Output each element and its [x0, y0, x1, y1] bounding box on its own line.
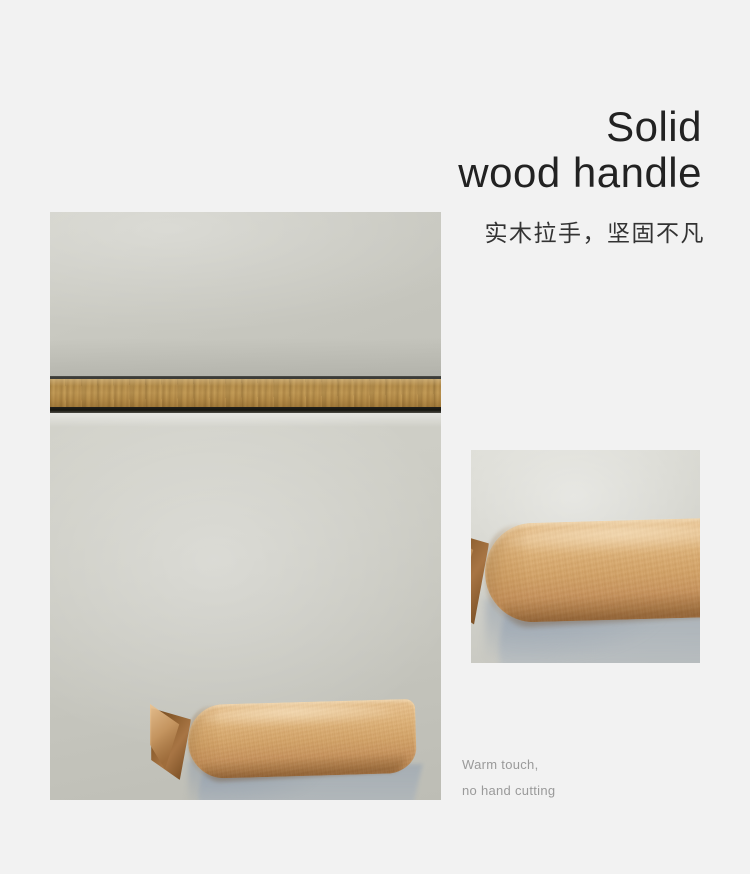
caption-line-2: no hand cutting: [462, 778, 555, 804]
product-detail-page: Solid wood handle 实木拉手，坚固不凡: [0, 0, 750, 874]
caption-line-1: Warm touch,: [462, 752, 555, 778]
wood-trim-highlight: [50, 379, 441, 386]
handle-body: [484, 516, 700, 624]
wood-trim-strip: [50, 379, 441, 408]
cabinet-panel-lower: [50, 413, 441, 800]
headline-line-1: Solid: [282, 104, 702, 150]
inset-detail-photo: [471, 450, 700, 663]
handle-top-highlight: [203, 702, 394, 729]
subtitle-chinese: 实木拉手，坚固不凡: [485, 218, 706, 248]
handle-body: [187, 699, 417, 779]
panel-upper-shading: [50, 338, 441, 378]
handle-top-highlight: [505, 521, 700, 558]
panel-lower-highlight: [50, 413, 441, 427]
headline-line-2: wood handle: [282, 150, 702, 196]
caption-block: Warm touch, no hand cutting: [462, 752, 555, 804]
page-title: Solid wood handle: [282, 104, 702, 196]
cabinet-panel-upper: [50, 212, 441, 378]
main-product-photo: [50, 212, 441, 800]
